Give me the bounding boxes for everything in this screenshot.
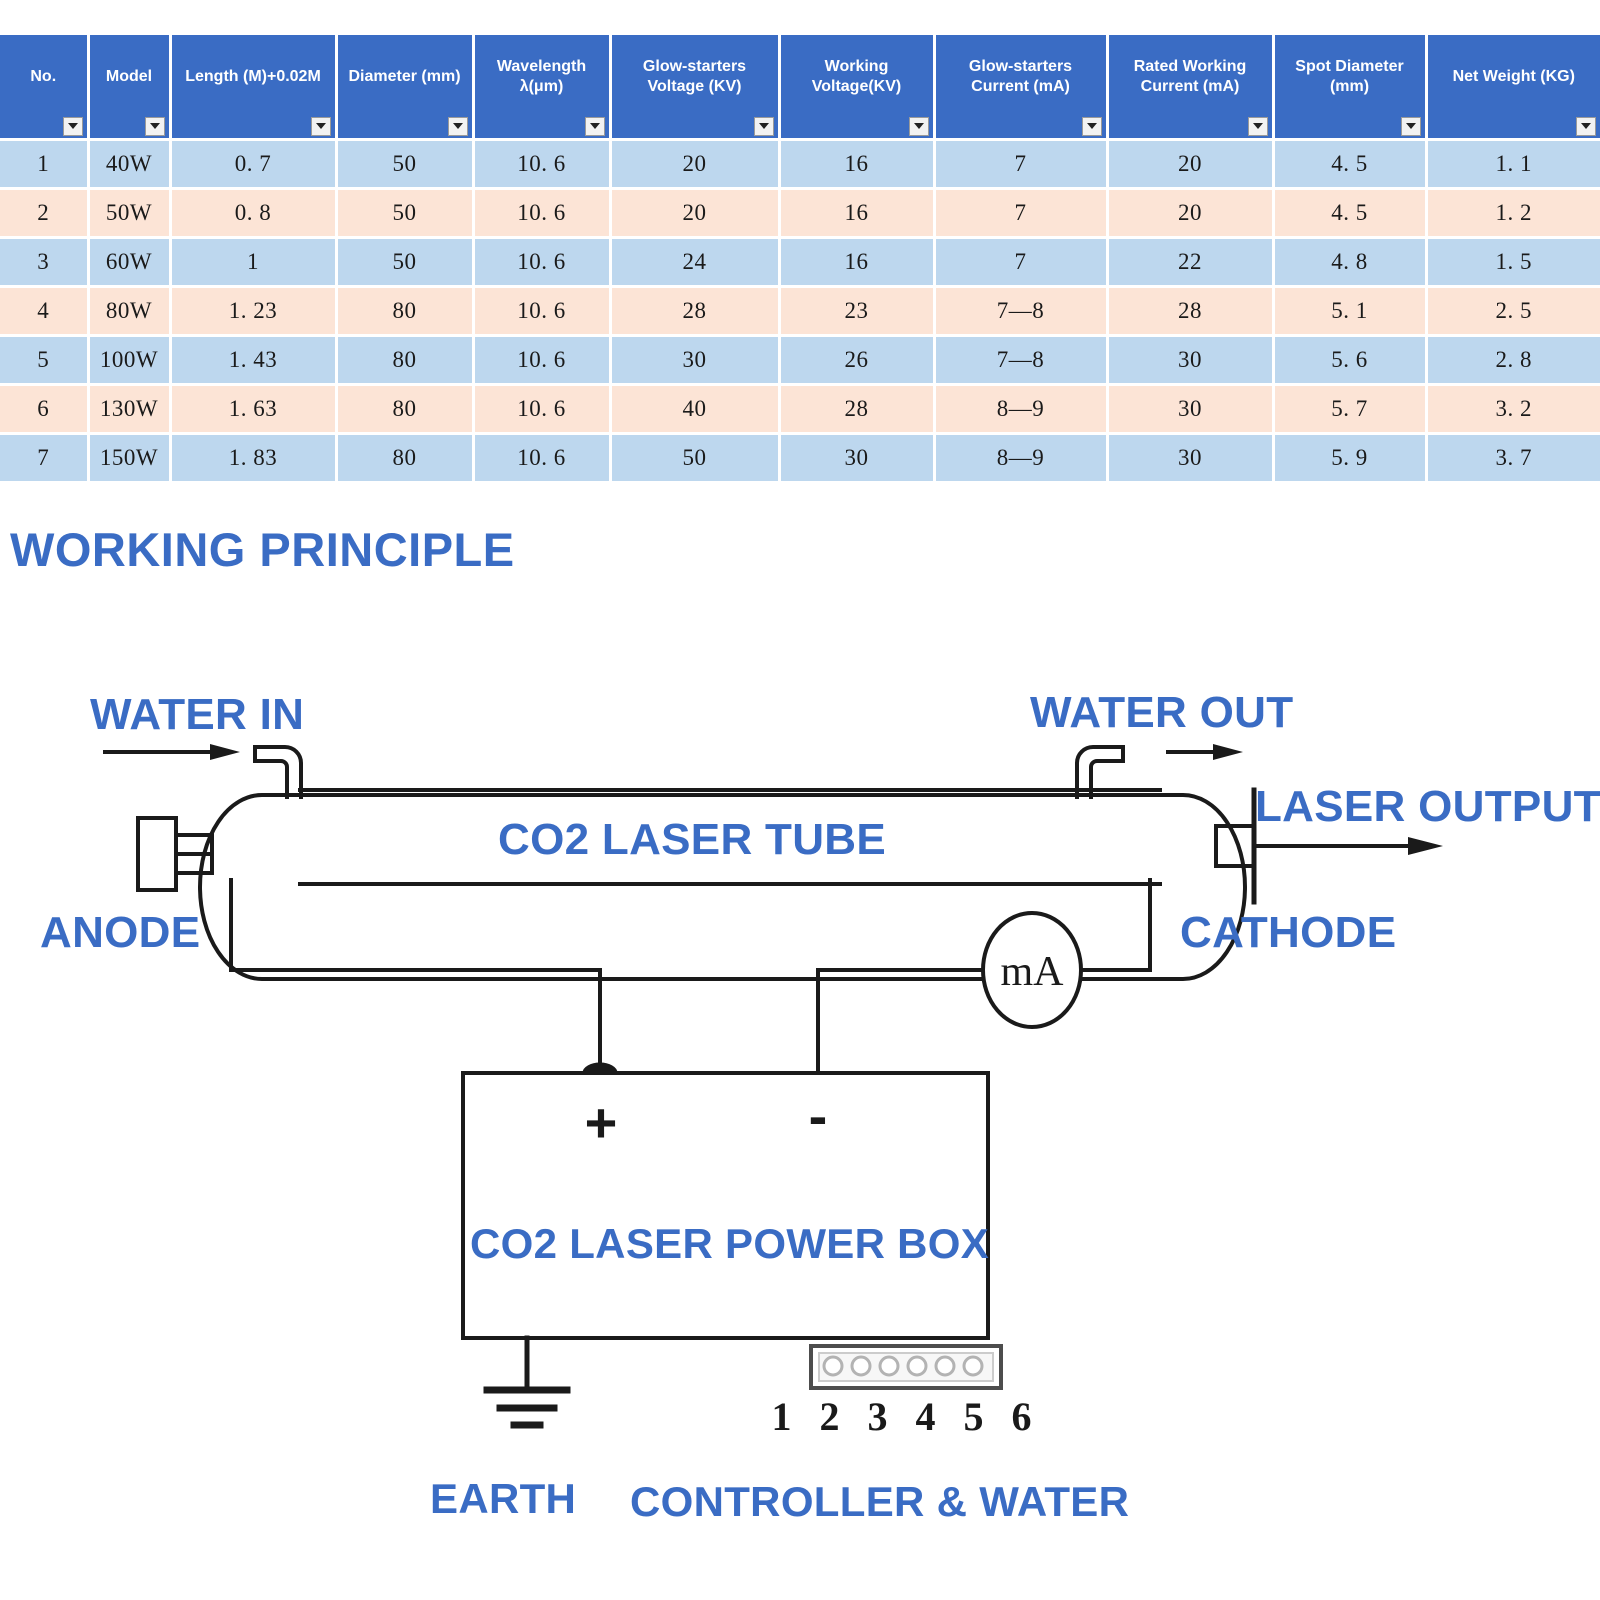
table-cell: 20: [610, 188, 779, 237]
power-box-plus-label: +: [585, 1091, 618, 1154]
table-cell: 22: [1107, 237, 1273, 286]
table-cell: 10. 6: [473, 384, 610, 433]
column-header-glow-starters-voltage[interactable]: Glow-starters Voltage (KV): [610, 35, 779, 139]
table-cell: 10. 6: [473, 433, 610, 482]
table-cell: 28: [610, 286, 779, 335]
filter-dropdown-icon[interactable]: [448, 117, 468, 136]
rear-mirror-housing: [138, 818, 176, 890]
column-header-length[interactable]: Length (M)+0.02M: [170, 35, 336, 139]
table-cell: 5. 9: [1273, 433, 1426, 482]
label-co2-laser-tube: CO2 LASER TUBE: [498, 815, 886, 865]
cathode-wire-lower: [818, 970, 983, 1073]
table-cell: 10. 6: [473, 188, 610, 237]
table-cell: 130W: [88, 384, 170, 433]
table-cell: 24: [610, 237, 779, 286]
column-header-label: Working Voltage(KV): [812, 58, 901, 95]
table-cell: 1. 43: [170, 335, 336, 384]
milliamp-meter-label: mA: [1001, 949, 1065, 995]
table-cell: 7: [934, 237, 1107, 286]
table-cell: 1: [0, 139, 88, 188]
label-water-out: WATER OUT: [1030, 688, 1293, 738]
table-cell: 4. 5: [1273, 139, 1426, 188]
table-cell: 30: [610, 335, 779, 384]
specification-table: No. Model Length (M)+0.02M Diameter (mm): [0, 35, 1600, 484]
column-header-label: Model: [106, 68, 152, 85]
working-principle-heading: WORKING PRINCIPLE: [10, 522, 515, 577]
table-cell: 80: [336, 384, 473, 433]
table-row: 6130W1. 638010. 640288—9305. 73. 2: [0, 384, 1600, 433]
table-cell: 26: [779, 335, 934, 384]
column-header-label: Glow-starters Voltage (KV): [643, 58, 746, 95]
column-header-label: Length (M)+0.02M: [185, 68, 321, 85]
filter-dropdown-icon[interactable]: [63, 117, 83, 136]
table-cell: 16: [779, 188, 934, 237]
table-cell: 4. 8: [1273, 237, 1426, 286]
column-header-label: Rated Working Current (mA): [1134, 58, 1247, 95]
laser-output-arrow-head: [1408, 837, 1443, 855]
table-row: 480W1. 238010. 628237—8285. 12. 5: [0, 286, 1600, 335]
table-cell: 4: [0, 286, 88, 335]
filter-dropdown-icon[interactable]: [1248, 117, 1268, 136]
table-cell: 7: [934, 188, 1107, 237]
column-header-spot-diameter[interactable]: Spot Diameter (mm): [1273, 35, 1426, 139]
connector-pin-numbers: 1 2 3 4 5 6: [772, 1394, 1041, 1439]
table-cell: 1: [170, 237, 336, 286]
table-row: 140W0. 75010. 620167204. 51. 1: [0, 139, 1600, 188]
table-cell: 40W: [88, 139, 170, 188]
table-cell: 1. 1: [1426, 139, 1600, 188]
table-cell: 8—9: [934, 433, 1107, 482]
label-cathode: CATHODE: [1180, 908, 1396, 958]
spec-table-container: No. Model Length (M)+0.02M Diameter (mm): [0, 35, 1600, 484]
cathode-wire-upper: [1081, 880, 1150, 970]
table-cell: 0. 7: [170, 139, 336, 188]
column-header-working-voltage[interactable]: Working Voltage(KV): [779, 35, 934, 139]
table-cell: 8—9: [934, 384, 1107, 433]
table-cell: 20: [610, 139, 779, 188]
column-header-net-weight[interactable]: Net Weight (KG): [1426, 35, 1600, 139]
table-cell: 3. 2: [1426, 384, 1600, 433]
table-cell: 1. 5: [1426, 237, 1600, 286]
table-cell: 0. 8: [170, 188, 336, 237]
connector-pin-6: [964, 1357, 982, 1375]
column-header-label: Diameter (mm): [348, 68, 460, 85]
table-cell: 50: [336, 237, 473, 286]
column-header-rated-working-current[interactable]: Rated Working Current (mA): [1107, 35, 1273, 139]
water-out-arrow-head: [1213, 744, 1243, 760]
table-row: 7150W1. 838010. 650308—9305. 93. 7: [0, 433, 1600, 482]
table-cell: 1. 83: [170, 433, 336, 482]
power-box-rect: [463, 1073, 988, 1338]
column-header-label: Wavelength λ(μm): [497, 58, 586, 95]
column-header-label: No.: [30, 68, 56, 85]
table-cell: 28: [1107, 286, 1273, 335]
label-co2-laser-power-box: CO2 LASER POWER BOX: [470, 1220, 989, 1268]
table-cell: 10. 6: [473, 237, 610, 286]
column-header-wavelength[interactable]: Wavelength λ(μm): [473, 35, 610, 139]
filter-dropdown-icon[interactable]: [1401, 117, 1421, 136]
table-cell: 2: [0, 188, 88, 237]
connector-pin-3: [880, 1357, 898, 1375]
table-cell: 5. 7: [1273, 384, 1426, 433]
label-water-in: WATER IN: [90, 690, 304, 740]
table-cell: 16: [779, 139, 934, 188]
table-cell: 20: [1107, 188, 1273, 237]
anode-wire: [231, 880, 600, 1073]
table-cell: 150W: [88, 433, 170, 482]
diagram-svg: mA + - 1 2 3 4 5 6: [0, 630, 1600, 1600]
table-cell: 7—8: [934, 335, 1107, 384]
table-cell: 23: [779, 286, 934, 335]
table-cell: 60W: [88, 237, 170, 286]
table-cell: 50: [336, 188, 473, 237]
table-cell: 2. 8: [1426, 335, 1600, 384]
table-cell: 7—8: [934, 286, 1107, 335]
connector-pin-2: [852, 1357, 870, 1375]
connector-pin-4: [908, 1357, 926, 1375]
table-cell: 50: [610, 433, 779, 482]
table-cell: 5. 1: [1273, 286, 1426, 335]
table-cell: 80: [336, 433, 473, 482]
table-row: 360W15010. 624167224. 81. 5: [0, 237, 1600, 286]
table-cell: 80W: [88, 286, 170, 335]
table-cell: 30: [1107, 335, 1273, 384]
filter-dropdown-icon[interactable]: [754, 117, 774, 136]
table-cell: 16: [779, 237, 934, 286]
table-cell: 100W: [88, 335, 170, 384]
table-cell: 80: [336, 286, 473, 335]
table-cell: 30: [1107, 433, 1273, 482]
connector-pin-1: [824, 1357, 842, 1375]
table-cell: 3: [0, 237, 88, 286]
column-header-model[interactable]: Model: [88, 35, 170, 139]
page-root: No. Model Length (M)+0.02M Diameter (mm): [0, 0, 1600, 1600]
table-cell: 2. 5: [1426, 286, 1600, 335]
table-cell: 28: [779, 384, 934, 433]
water-in-pipe-inner: [258, 761, 287, 797]
filter-dropdown-icon[interactable]: [585, 117, 605, 136]
filter-dropdown-icon[interactable]: [1082, 117, 1102, 136]
label-anode: ANODE: [40, 908, 200, 958]
table-cell: 50W: [88, 188, 170, 237]
filter-dropdown-icon[interactable]: [145, 117, 165, 136]
table-header-row: No. Model Length (M)+0.02M Diameter (mm): [0, 35, 1600, 139]
filter-dropdown-icon[interactable]: [1576, 117, 1596, 136]
working-principle-diagram: mA + - 1 2 3 4 5 6 WATER IN WATER OUT LA…: [0, 630, 1600, 1600]
column-header-no[interactable]: No.: [0, 35, 88, 139]
table-cell: 4. 5: [1273, 188, 1426, 237]
table-cell: 10. 6: [473, 335, 610, 384]
table-cell: 7: [0, 433, 88, 482]
table-cell: 6: [0, 384, 88, 433]
column-header-diameter[interactable]: Diameter (mm): [336, 35, 473, 139]
table-cell: 30: [779, 433, 934, 482]
table-cell: 1. 2: [1426, 188, 1600, 237]
table-cell: 5: [0, 335, 88, 384]
filter-dropdown-icon[interactable]: [311, 117, 331, 136]
table-body: 140W0. 75010. 620167204. 51. 1250W0. 850…: [0, 139, 1600, 482]
column-header-label: Glow-starters Current (mA): [969, 58, 1072, 95]
table-cell: 7: [934, 139, 1107, 188]
water-in-pipe: [255, 747, 301, 797]
label-laser-output: LASER OUTPUT: [1255, 782, 1600, 832]
table-cell: 20: [1107, 139, 1273, 188]
water-in-arrow-head: [210, 744, 240, 760]
filter-dropdown-icon[interactable]: [909, 117, 929, 136]
power-box-minus-label: -: [809, 1084, 828, 1147]
table-cell: 30: [1107, 384, 1273, 433]
column-header-label: Spot Diameter (mm): [1295, 58, 1403, 95]
connector-pin-5: [936, 1357, 954, 1375]
table-cell: 1. 63: [170, 384, 336, 433]
column-header-label: Net Weight (KG): [1453, 68, 1575, 85]
table-row: 5100W1. 438010. 630267—8305. 62. 8: [0, 335, 1600, 384]
column-header-glow-starters-current[interactable]: Glow-starters Current (mA): [934, 35, 1107, 139]
table-cell: 5. 6: [1273, 335, 1426, 384]
label-earth: EARTH: [430, 1475, 576, 1523]
table-cell: 10. 6: [473, 286, 610, 335]
label-controller-water: CONTROLLER & WATER: [630, 1478, 1129, 1526]
table-row: 250W0. 85010. 620167204. 51. 2: [0, 188, 1600, 237]
table-cell: 50: [336, 139, 473, 188]
table-cell: 80: [336, 335, 473, 384]
table-cell: 1. 23: [170, 286, 336, 335]
table-cell: 3. 7: [1426, 433, 1600, 482]
table-cell: 40: [610, 384, 779, 433]
table-cell: 10. 6: [473, 139, 610, 188]
